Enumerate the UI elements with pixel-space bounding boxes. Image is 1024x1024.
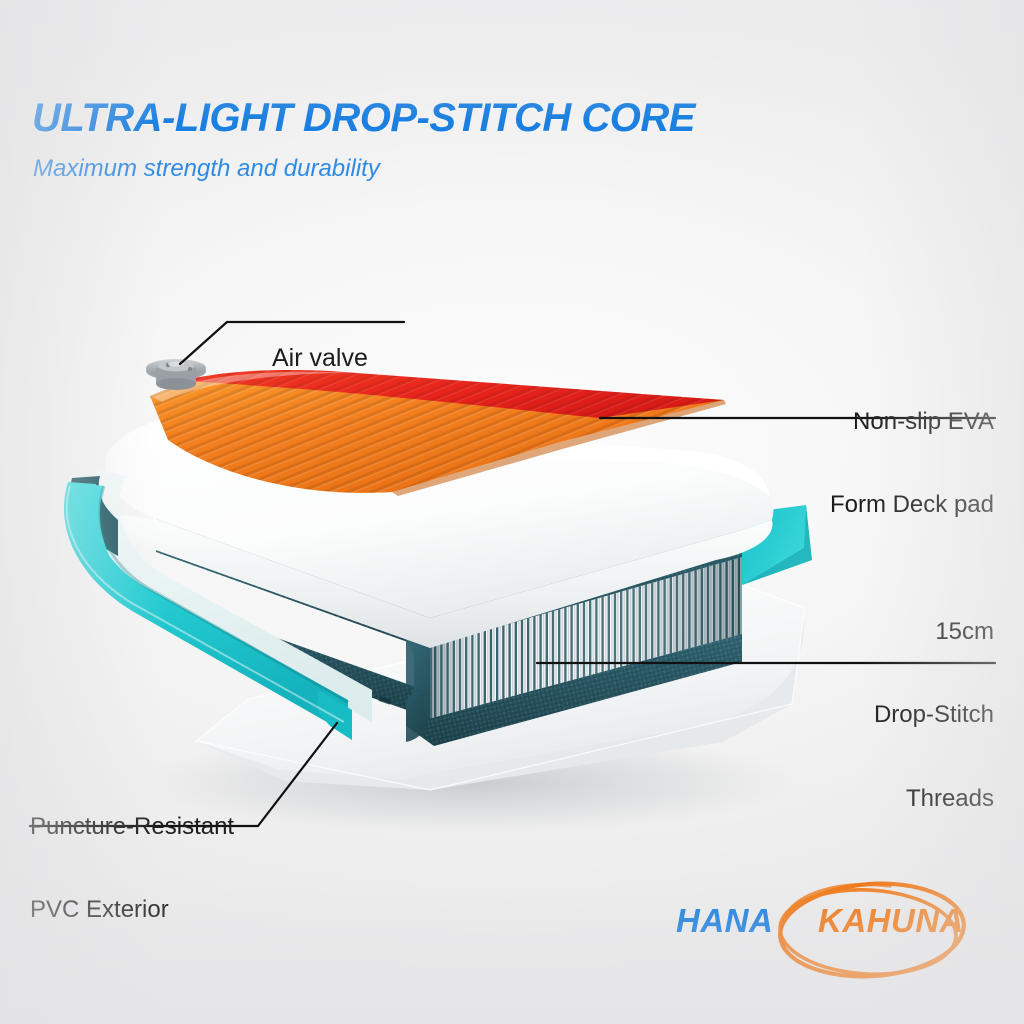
callout-eva-line2: Form Deck pad <box>700 491 994 519</box>
page-subtitle: Maximum strength and durability <box>33 155 380 183</box>
callout-ds-line3: Threads <box>760 785 994 813</box>
callout-air-valve: Air valve <box>272 286 368 431</box>
logo-word-kahuna: KAHUNA <box>818 902 964 940</box>
callout-eva-line1: Non-slip EVA <box>700 408 994 436</box>
callout-eva-deck-pad: Non-slip EVA Form Deck pad <box>700 352 994 575</box>
callout-air-valve-line1: Air valve <box>272 344 368 373</box>
callout-ds-line2: Drop-Stitch <box>760 701 994 729</box>
logo-word-hana: HANA <box>676 902 773 940</box>
callout-ds-line1: 15cm <box>760 618 994 646</box>
callout-pvc-line1: Puncture-Resistant <box>30 813 234 841</box>
page-title: ULTRA-LIGHT DROP-STITCH CORE <box>32 96 695 141</box>
brand-logo: HANA KAHUNA <box>676 872 1006 992</box>
infographic-canvas: ULTRA-LIGHT DROP-STITCH CORE Maximum str… <box>0 0 1024 1024</box>
callout-drop-stitch: 15cm Drop-Stitch Threads <box>760 562 994 868</box>
callout-pvc-line2: PVC Exterior <box>30 896 234 924</box>
callout-pvc-exterior: Puncture-Resistant PVC Exterior <box>30 757 234 980</box>
